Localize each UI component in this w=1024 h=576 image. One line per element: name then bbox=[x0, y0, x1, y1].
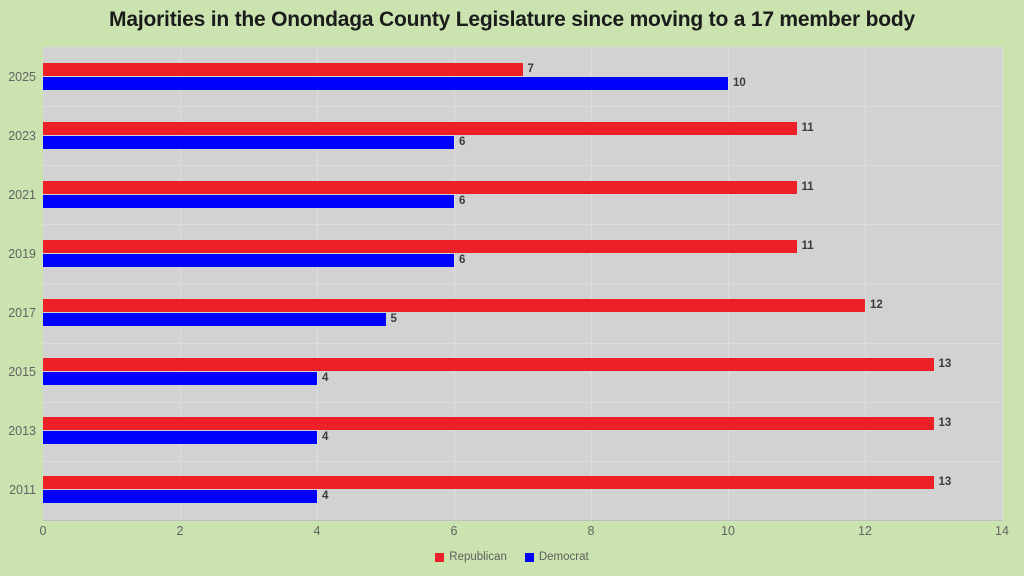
y-axis-label-2021: 2021 bbox=[0, 188, 36, 202]
bar-republican-2017[interactable] bbox=[43, 299, 865, 312]
gridline-horizontal bbox=[43, 165, 1002, 166]
x-axis-label-10: 10 bbox=[721, 524, 735, 538]
x-axis-label-12: 12 bbox=[858, 524, 872, 538]
legend-label-republican: Republican bbox=[449, 551, 507, 563]
legend-swatch-republican-icon bbox=[435, 553, 444, 562]
bar-republican-2011[interactable] bbox=[43, 476, 934, 489]
legend-label-democrat: Democrat bbox=[539, 551, 589, 563]
bar-democrat-2023[interactable] bbox=[43, 136, 454, 149]
y-axis-label-2025: 2025 bbox=[0, 70, 36, 84]
bar-democrat-2019[interactable] bbox=[43, 254, 454, 267]
bar-value-label-democrat-2013: 4 bbox=[322, 431, 328, 444]
plot-area: 710116116116125134134134 bbox=[43, 47, 1002, 520]
y-axis-label-2011: 2011 bbox=[0, 483, 36, 497]
bar-group: 125 bbox=[43, 299, 1002, 327]
bar-republican-2025[interactable] bbox=[43, 63, 523, 76]
bar-democrat-2021[interactable] bbox=[43, 195, 454, 208]
bar-group: 116 bbox=[43, 240, 1002, 268]
x-axis-label-8: 8 bbox=[588, 524, 595, 538]
legend-item-democrat[interactable]: Democrat bbox=[525, 551, 589, 563]
y-axis-label-2023: 2023 bbox=[0, 129, 36, 143]
bar-value-label-democrat-2023: 6 bbox=[459, 136, 465, 149]
bar-republican-2019[interactable] bbox=[43, 240, 797, 253]
bar-democrat-2025[interactable] bbox=[43, 77, 728, 90]
legend-swatch-democrat-icon bbox=[525, 553, 534, 562]
gridline-vertical bbox=[1002, 47, 1003, 520]
bar-value-label-republican-2011: 13 bbox=[939, 476, 952, 489]
gridline-horizontal bbox=[43, 343, 1002, 344]
vertical-gridlines bbox=[43, 47, 1002, 520]
gridline-vertical bbox=[454, 47, 455, 520]
bar-democrat-2011[interactable] bbox=[43, 490, 317, 503]
legend-item-republican[interactable]: Republican bbox=[435, 551, 507, 563]
bar-value-label-democrat-2011: 4 bbox=[322, 490, 328, 503]
bar-value-label-republican-2019: 11 bbox=[802, 240, 814, 253]
bar-value-label-republican-2013: 13 bbox=[939, 417, 952, 430]
gridline-horizontal bbox=[43, 284, 1002, 285]
bar-democrat-2017[interactable] bbox=[43, 313, 386, 326]
y-axis-label-2017: 2017 bbox=[0, 306, 36, 320]
gridline-vertical bbox=[591, 47, 592, 520]
bar-republican-2021[interactable] bbox=[43, 181, 797, 194]
bar-value-label-republican-2021: 11 bbox=[802, 181, 814, 194]
gridline-vertical bbox=[180, 47, 181, 520]
bar-republican-2023[interactable] bbox=[43, 122, 797, 135]
bar-group: 134 bbox=[43, 476, 1002, 504]
gridline-horizontal bbox=[43, 224, 1002, 225]
gridline-horizontal bbox=[43, 461, 1002, 462]
gridline-horizontal bbox=[43, 106, 1002, 107]
bar-republican-2013[interactable] bbox=[43, 417, 934, 430]
x-axis-label-2: 2 bbox=[177, 524, 184, 538]
x-axis-label-6: 6 bbox=[451, 524, 458, 538]
gridline-vertical bbox=[317, 47, 318, 520]
bar-value-label-republican-2023: 11 bbox=[802, 122, 814, 135]
bar-democrat-2013[interactable] bbox=[43, 431, 317, 444]
x-axis-label-14: 14 bbox=[995, 524, 1009, 538]
bar-value-label-democrat-2025: 10 bbox=[733, 77, 746, 90]
bar-value-label-democrat-2015: 4 bbox=[322, 372, 328, 385]
bar-republican-2015[interactable] bbox=[43, 358, 934, 371]
chart-container: Majorities in the Onondaga County Legisl… bbox=[0, 0, 1024, 576]
x-axis-label-0: 0 bbox=[40, 524, 47, 538]
bar-group: 116 bbox=[43, 122, 1002, 150]
bar-value-label-democrat-2019: 6 bbox=[459, 254, 465, 267]
y-axis-label-2013: 2013 bbox=[0, 424, 36, 438]
bar-value-label-republican-2015: 13 bbox=[939, 358, 952, 371]
bar-group: 134 bbox=[43, 358, 1002, 386]
gridline-vertical bbox=[865, 47, 866, 520]
chart-title: Majorities in the Onondaga County Legisl… bbox=[0, 8, 1024, 32]
y-axis-label-2019: 2019 bbox=[0, 247, 36, 261]
bar-value-label-democrat-2017: 5 bbox=[391, 313, 397, 326]
y-axis: 20252023202120192017201520132011 bbox=[0, 47, 36, 520]
y-axis-label-2015: 2015 bbox=[0, 365, 36, 379]
gridline-horizontal bbox=[43, 402, 1002, 403]
bar-value-label-republican-2025: 7 bbox=[528, 63, 534, 76]
bar-group: 710 bbox=[43, 63, 1002, 91]
x-axis-line bbox=[43, 520, 1002, 521]
bar-value-label-democrat-2021: 6 bbox=[459, 195, 465, 208]
gridline-vertical bbox=[728, 47, 729, 520]
x-axis: 02468101214 bbox=[0, 524, 1024, 542]
bar-group: 116 bbox=[43, 181, 1002, 209]
chart-legend: RepublicanDemocrat bbox=[0, 551, 1024, 563]
x-axis-label-4: 4 bbox=[314, 524, 321, 538]
horizontal-gridlines bbox=[43, 47, 1002, 520]
bar-group: 134 bbox=[43, 417, 1002, 445]
bar-democrat-2015[interactable] bbox=[43, 372, 317, 385]
bar-value-label-republican-2017: 12 bbox=[870, 299, 883, 312]
